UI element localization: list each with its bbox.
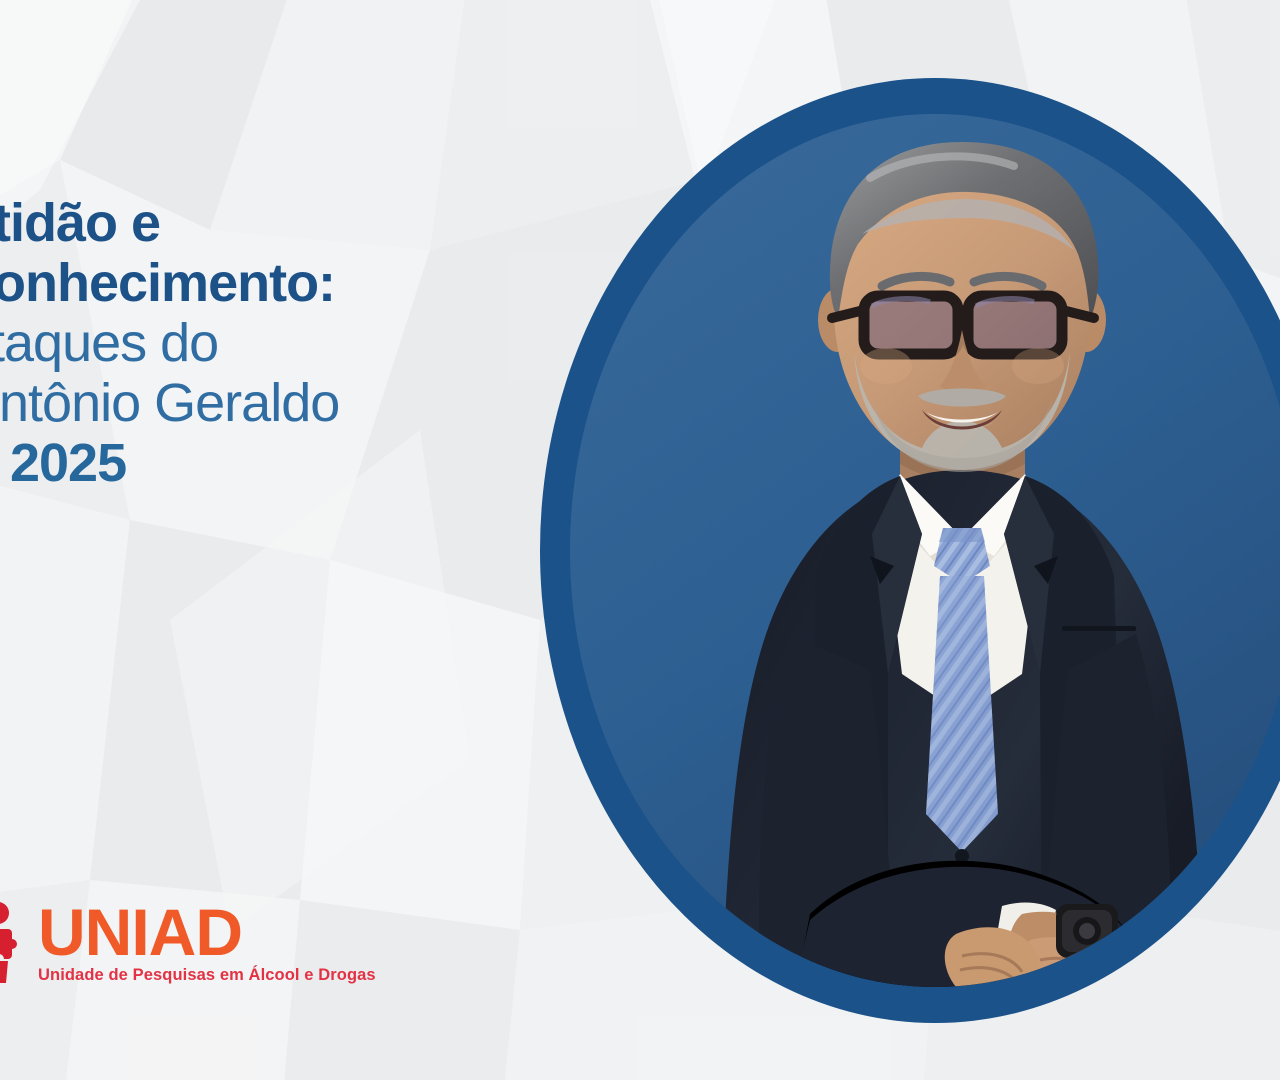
portrait-image-clip <box>570 114 1280 987</box>
man-in-dark-suit-portrait <box>570 114 1280 987</box>
uniad-wordmark: UNIAD <box>38 902 376 963</box>
uniad-puzzle-person-icon <box>0 899 32 985</box>
headline-line-1: atidão e <box>0 196 564 250</box>
headline-line-2: conhecimento: <box>0 256 564 310</box>
headline-line-5: n 2025 <box>0 436 564 490</box>
headline-block: atidão e conhecimento: staques do Antôni… <box>0 196 564 490</box>
portrait-circle <box>540 78 1280 1023</box>
headline-line-3: staques do <box>0 316 564 370</box>
uniad-tagline: Unidade de Pesquisas em Álcool e Drogas <box>38 966 376 985</box>
uniad-logo[interactable]: UNIAD Unidade de Pesquisas em Álcool e D… <box>0 899 376 985</box>
headline-line-4: Antônio Geraldo <box>0 376 564 430</box>
